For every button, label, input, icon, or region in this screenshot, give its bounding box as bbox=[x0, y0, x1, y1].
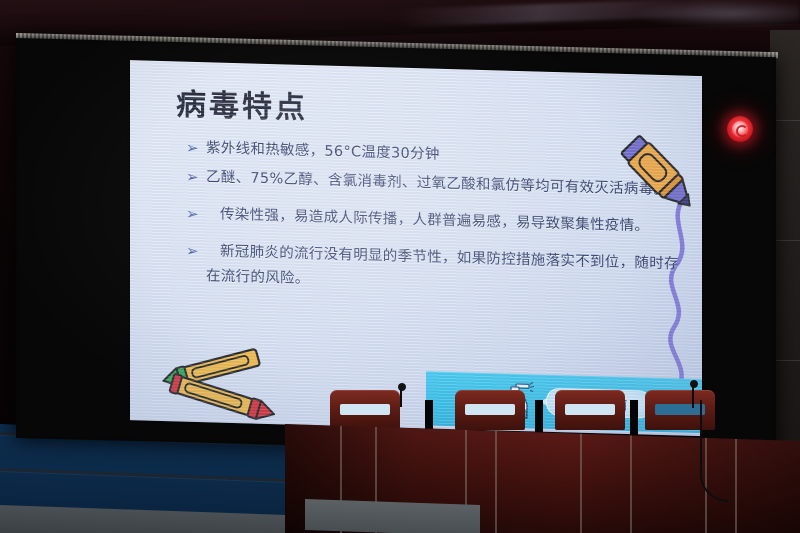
presentation-slide: 病毒特点 ➢ 紫外线和热敏感，56°C温度30分钟 ➢ 乙醚、75%乙醇、含氯消… bbox=[130, 60, 702, 436]
list-item: ➢ 新冠肺炎的流行没有明显的季节性，如果防控措施落实不到位，随时存在流行的风险。 bbox=[186, 239, 691, 303]
slide-title: 病毒特点 bbox=[176, 79, 308, 127]
chair-slot bbox=[465, 404, 515, 415]
podium-seam bbox=[495, 431, 497, 533]
logo-glyph-icon bbox=[732, 121, 748, 137]
screenshot-root: 病毒特点 ➢ 紫外线和热敏感，56°C温度30分钟 ➢ 乙醚、75%乙醇、含氯消… bbox=[0, 0, 800, 533]
chair-gap bbox=[630, 400, 638, 440]
bullet-text: 新冠肺炎的流行没有明显的季节性，如果防控措施落实不到位，随时存在流行的风险。 bbox=[206, 239, 691, 303]
microphone-stand bbox=[400, 389, 402, 407]
crayon-icon bbox=[600, 113, 702, 226]
chair-slot bbox=[340, 404, 390, 415]
red-indicator-logo bbox=[727, 116, 753, 142]
bullet-arrow-icon: ➢ bbox=[186, 202, 206, 227]
podium-seam bbox=[735, 439, 737, 533]
crayon-pair-icon bbox=[158, 341, 298, 430]
podium-seam bbox=[630, 435, 632, 533]
bullet-arrow-icon: ➢ bbox=[186, 165, 206, 190]
stage-table bbox=[305, 499, 480, 533]
right-wall-seam bbox=[772, 360, 800, 361]
ceiling-glint-secondary bbox=[630, 0, 800, 28]
bullet-arrow-icon: ➢ bbox=[186, 136, 206, 161]
right-wall-seam bbox=[772, 120, 800, 121]
chair bbox=[555, 390, 625, 434]
right-wall-seam bbox=[772, 240, 800, 241]
chair-slot bbox=[655, 404, 705, 415]
chair-slot bbox=[565, 404, 615, 415]
microphone-stand bbox=[692, 386, 694, 408]
chair bbox=[455, 390, 525, 434]
bullet-arrow-icon: ➢ bbox=[186, 239, 206, 264]
power-cable bbox=[700, 400, 728, 502]
podium-seam bbox=[580, 434, 582, 533]
